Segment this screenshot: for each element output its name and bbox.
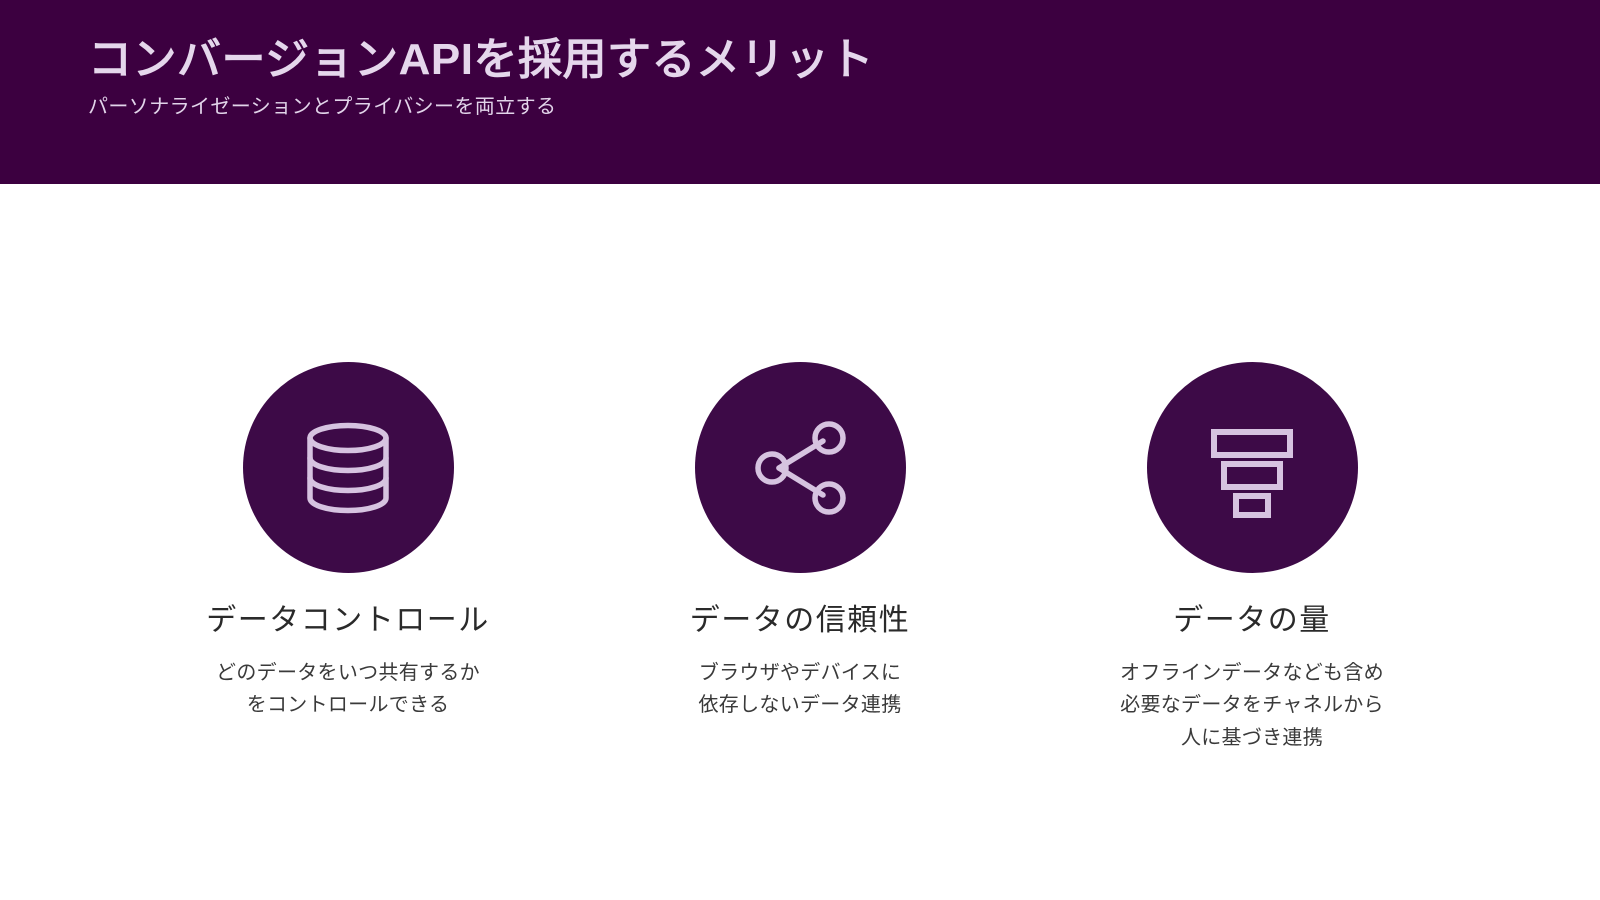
icon-badge: [243, 362, 454, 573]
page-subtitle: パーソナライゼーションとプライバシーを両立する: [88, 94, 874, 120]
benefits-row: データコントロール どのデータをいつ共有するか をコントロールできる データの信…: [0, 184, 1600, 900]
benefit-card-data-volume: データの量 オフラインデータなども含め 必要なデータをチャネルから 人に基づき連…: [1026, 362, 1478, 754]
benefit-description: ブラウザやデバイスに 依存しないデータ連携: [699, 657, 902, 722]
page-title: コンバージョンAPIを採用するメリット: [88, 34, 874, 86]
funnel-icon: [1196, 412, 1308, 524]
benefit-description: オフラインデータなども含め 必要なデータをチャネルから 人に基づき連携: [1120, 657, 1384, 754]
icon-badge: [695, 362, 906, 573]
benefit-description: どのデータをいつ共有するか をコントロールできる: [216, 657, 480, 722]
benefit-card-data-control: データコントロール どのデータをいつ共有するか をコントロールできる: [122, 362, 574, 722]
share-network-icon: [744, 412, 856, 524]
benefit-title: データの量: [1173, 603, 1331, 639]
database-icon: [292, 412, 404, 524]
benefit-title: データコントロール: [206, 603, 490, 639]
benefit-card-data-reliability: データの信頼性 ブラウザやデバイスに 依存しないデータ連携: [574, 362, 1026, 722]
benefit-title: データの信頼性: [690, 603, 911, 639]
slide-header-band: コンバージョンAPIを採用するメリット パーソナライゼーションとプライバシーを両…: [0, 0, 1600, 184]
icon-badge: [1147, 362, 1358, 573]
header-text-group: コンバージョンAPIを採用するメリット パーソナライゼーションとプライバシーを両…: [88, 34, 874, 120]
